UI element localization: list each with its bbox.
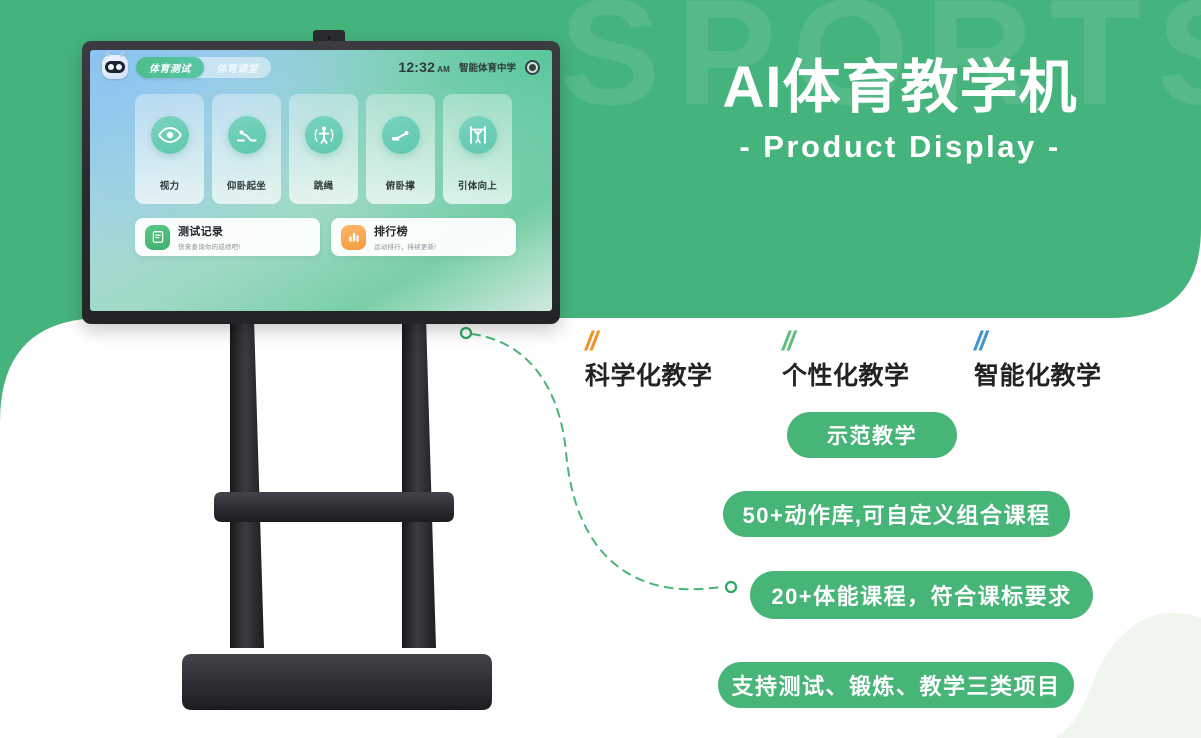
clock-time: 12:32 bbox=[398, 59, 435, 75]
feature-pill-3[interactable]: 支持测试、锻炼、教学三类项目 bbox=[718, 662, 1074, 708]
card-title: 排行榜 bbox=[374, 223, 436, 239]
bar-chart-icon bbox=[341, 225, 366, 250]
decor-blob-bottom-right bbox=[1056, 613, 1201, 738]
feature-pill-0[interactable]: 示范教学 bbox=[787, 412, 957, 458]
quote-mark-icon: // bbox=[782, 328, 910, 346]
quote-mark-icon: // bbox=[974, 328, 1102, 346]
app-tile-jumprope[interactable]: 跳绳 bbox=[289, 94, 358, 204]
situp-icon bbox=[228, 116, 266, 154]
device-mockup: 体育测试 体育课堂 12:32AM 智能体育中学 bbox=[82, 30, 572, 710]
tab-sports-test[interactable]: 体育测试 bbox=[136, 57, 204, 78]
app-tile-label: 仰卧起坐 bbox=[227, 178, 266, 192]
quick-card-row: 测试记录 快来查询你的成绩吧! 排行榜 运动排行，持续更新! bbox=[135, 218, 516, 256]
page-subtitle: - Product Display - bbox=[640, 129, 1160, 165]
app-tile-situp[interactable]: 仰卧起坐 bbox=[212, 94, 281, 204]
tab-sports-class[interactable]: 体育课堂 bbox=[204, 57, 272, 78]
card-subtitle: 运动排行，持续更新! bbox=[374, 241, 436, 251]
pullup-icon bbox=[459, 116, 497, 154]
quote-mark-icon: // bbox=[585, 328, 713, 346]
clock-ampm: AM bbox=[437, 65, 450, 74]
headline-block: AI体育教学机 - Product Display - bbox=[640, 56, 1160, 165]
app-tile-label: 引体向上 bbox=[458, 178, 497, 192]
app-tile-label: 俯卧撑 bbox=[386, 178, 415, 192]
document-icon bbox=[145, 225, 170, 250]
gear-icon[interactable] bbox=[525, 60, 540, 75]
app-tile-pullup[interactable]: 引体向上 bbox=[443, 94, 512, 204]
connector-end-dot bbox=[726, 582, 736, 592]
robot-avatar-icon bbox=[102, 55, 128, 79]
screen-topbar: 体育测试 体育课堂 12:32AM 智能体育中学 bbox=[90, 50, 552, 84]
tv-screen[interactable]: 体育测试 体育课堂 12:32AM 智能体育中学 bbox=[90, 50, 552, 311]
app-tile-vision[interactable]: 视力 bbox=[135, 94, 204, 204]
feature-heading-1: // 个性化教学 bbox=[782, 328, 910, 392]
pushup-icon bbox=[382, 116, 420, 154]
feature-heading-2: // 智能化教学 bbox=[974, 328, 1102, 392]
screen-tab-group: 体育测试 体育课堂 bbox=[136, 57, 271, 78]
app-tile-label: 视力 bbox=[160, 178, 180, 192]
poster-canvas: SPORTS AI体育教学机 - Product Display - // 科学… bbox=[0, 0, 1201, 738]
school-name: 智能体育中学 bbox=[459, 60, 516, 74]
feature-pill-1[interactable]: 50+动作库,可自定义组合课程 bbox=[723, 491, 1070, 537]
feature-label-0: 科学化教学 bbox=[585, 356, 713, 392]
app-tile-pushup[interactable]: 俯卧撑 bbox=[366, 94, 435, 204]
app-tile-grid: 视力 仰卧起坐 跳绳 bbox=[135, 94, 512, 204]
screen-status-area: 12:32AM 智能体育中学 bbox=[398, 59, 540, 75]
card-title: 测试记录 bbox=[178, 223, 240, 239]
page-title: AI体育教学机 bbox=[640, 56, 1160, 121]
card-subtitle: 快来查询你的成绩吧! bbox=[178, 241, 240, 251]
clock: 12:32AM bbox=[398, 59, 450, 75]
card-leaderboard[interactable]: 排行榜 运动排行，持续更新! bbox=[331, 218, 516, 256]
app-tile-label: 跳绳 bbox=[314, 178, 334, 192]
tv-frame: 体育测试 体育课堂 12:32AM 智能体育中学 bbox=[82, 41, 560, 324]
eye-icon bbox=[151, 116, 189, 154]
card-test-records[interactable]: 测试记录 快来查询你的成绩吧! bbox=[135, 218, 320, 256]
card-text: 测试记录 快来查询你的成绩吧! bbox=[178, 223, 240, 251]
card-text: 排行榜 运动排行，持续更新! bbox=[374, 223, 436, 251]
feature-label-1: 个性化教学 bbox=[782, 356, 910, 392]
jump-rope-icon bbox=[305, 116, 343, 154]
feature-label-2: 智能化教学 bbox=[974, 356, 1102, 392]
feature-heading-0: // 科学化教学 bbox=[585, 328, 713, 392]
feature-pill-2[interactable]: 20+体能课程，符合课标要求 bbox=[750, 571, 1093, 619]
